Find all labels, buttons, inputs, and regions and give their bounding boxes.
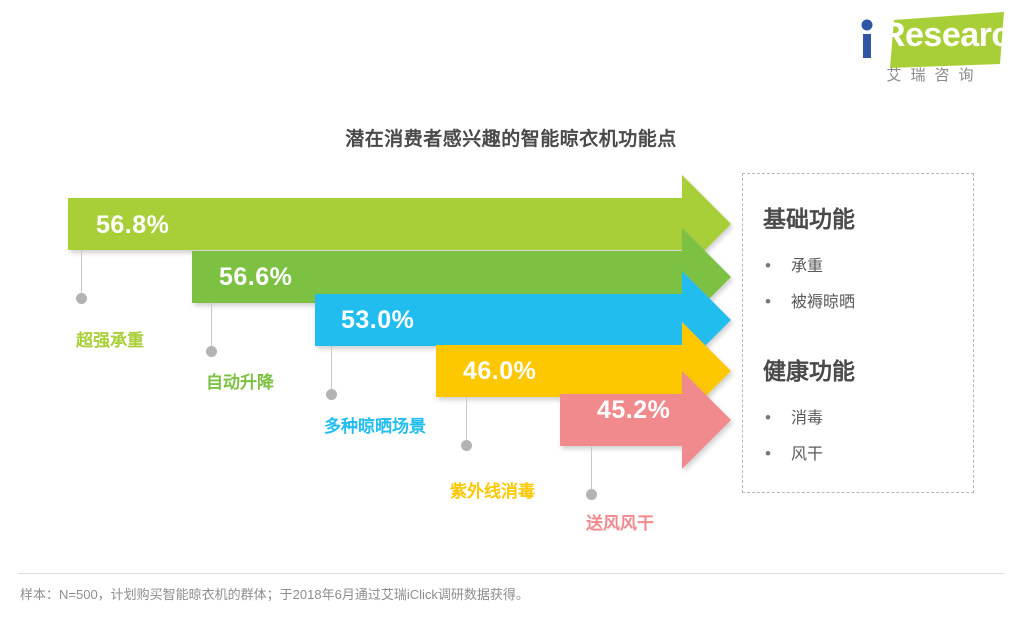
source-note: 样本：N=500，计划购买智能晾衣机的群体；于2018年6月通过艾瑞iClick… [20, 584, 529, 603]
bar-value-4: 46.0% [463, 357, 536, 386]
legend-item-label: 被褥晾晒 [791, 294, 855, 311]
bar-value-5: 45.2% [597, 396, 670, 425]
bullet-icon: • [765, 408, 791, 428]
connector-line-2 [211, 303, 212, 348]
logo-subtitle: 艾瑞咨询 [860, 64, 1000, 85]
bar-value-3: 53.0% [341, 306, 414, 335]
page-title: 潜在消费者感兴趣的智能晾衣机功能点 [0, 124, 1022, 151]
connector-line-1 [81, 250, 82, 295]
connector-dot-3 [326, 389, 337, 400]
legend-item-2-2: •风干 [765, 440, 823, 464]
bullet-icon: • [765, 292, 791, 312]
category-label-4: 紫外线消毒 [450, 477, 535, 502]
connector-line-3 [331, 346, 332, 391]
legend-item-1-1: •承重 [765, 252, 823, 276]
connector-line-5 [591, 446, 592, 491]
legend-item-1-2: •被褥晾晒 [765, 288, 855, 312]
legend-item-2-1: •消毒 [765, 404, 823, 428]
legend-item-label: 消毒 [791, 410, 823, 427]
connector-dot-1 [76, 293, 87, 304]
category-label-5: 送风风干 [586, 509, 654, 534]
bullet-icon: • [765, 444, 791, 464]
connector-dot-4 [461, 440, 472, 451]
legend-item-label: 承重 [791, 258, 823, 275]
connector-line-4 [466, 397, 467, 442]
legend-item-label: 风干 [791, 446, 823, 463]
connector-dot-5 [586, 489, 597, 500]
logo-wordmark: iResearch [872, 16, 1022, 55]
bar-value-1: 56.8% [96, 211, 169, 240]
connector-dot-2 [206, 346, 217, 357]
function-groups-panel: 基础功能 •承重 •被褥晾晒 健康功能 •消毒 •风干 [742, 173, 974, 493]
footer-divider [18, 573, 1004, 574]
category-label-1: 超强承重 [76, 326, 144, 351]
legend-group-title-1: 基础功能 [763, 200, 855, 234]
bullet-icon: • [765, 256, 791, 276]
category-label-3: 多种晾晒场景 [324, 412, 426, 437]
legend-group-title-2: 健康功能 [763, 352, 855, 386]
category-label-2: 自动升降 [206, 368, 274, 393]
iresearch-logo: iResearch 艾瑞咨询 [854, 8, 1004, 88]
bar-value-2: 56.6% [219, 263, 292, 292]
